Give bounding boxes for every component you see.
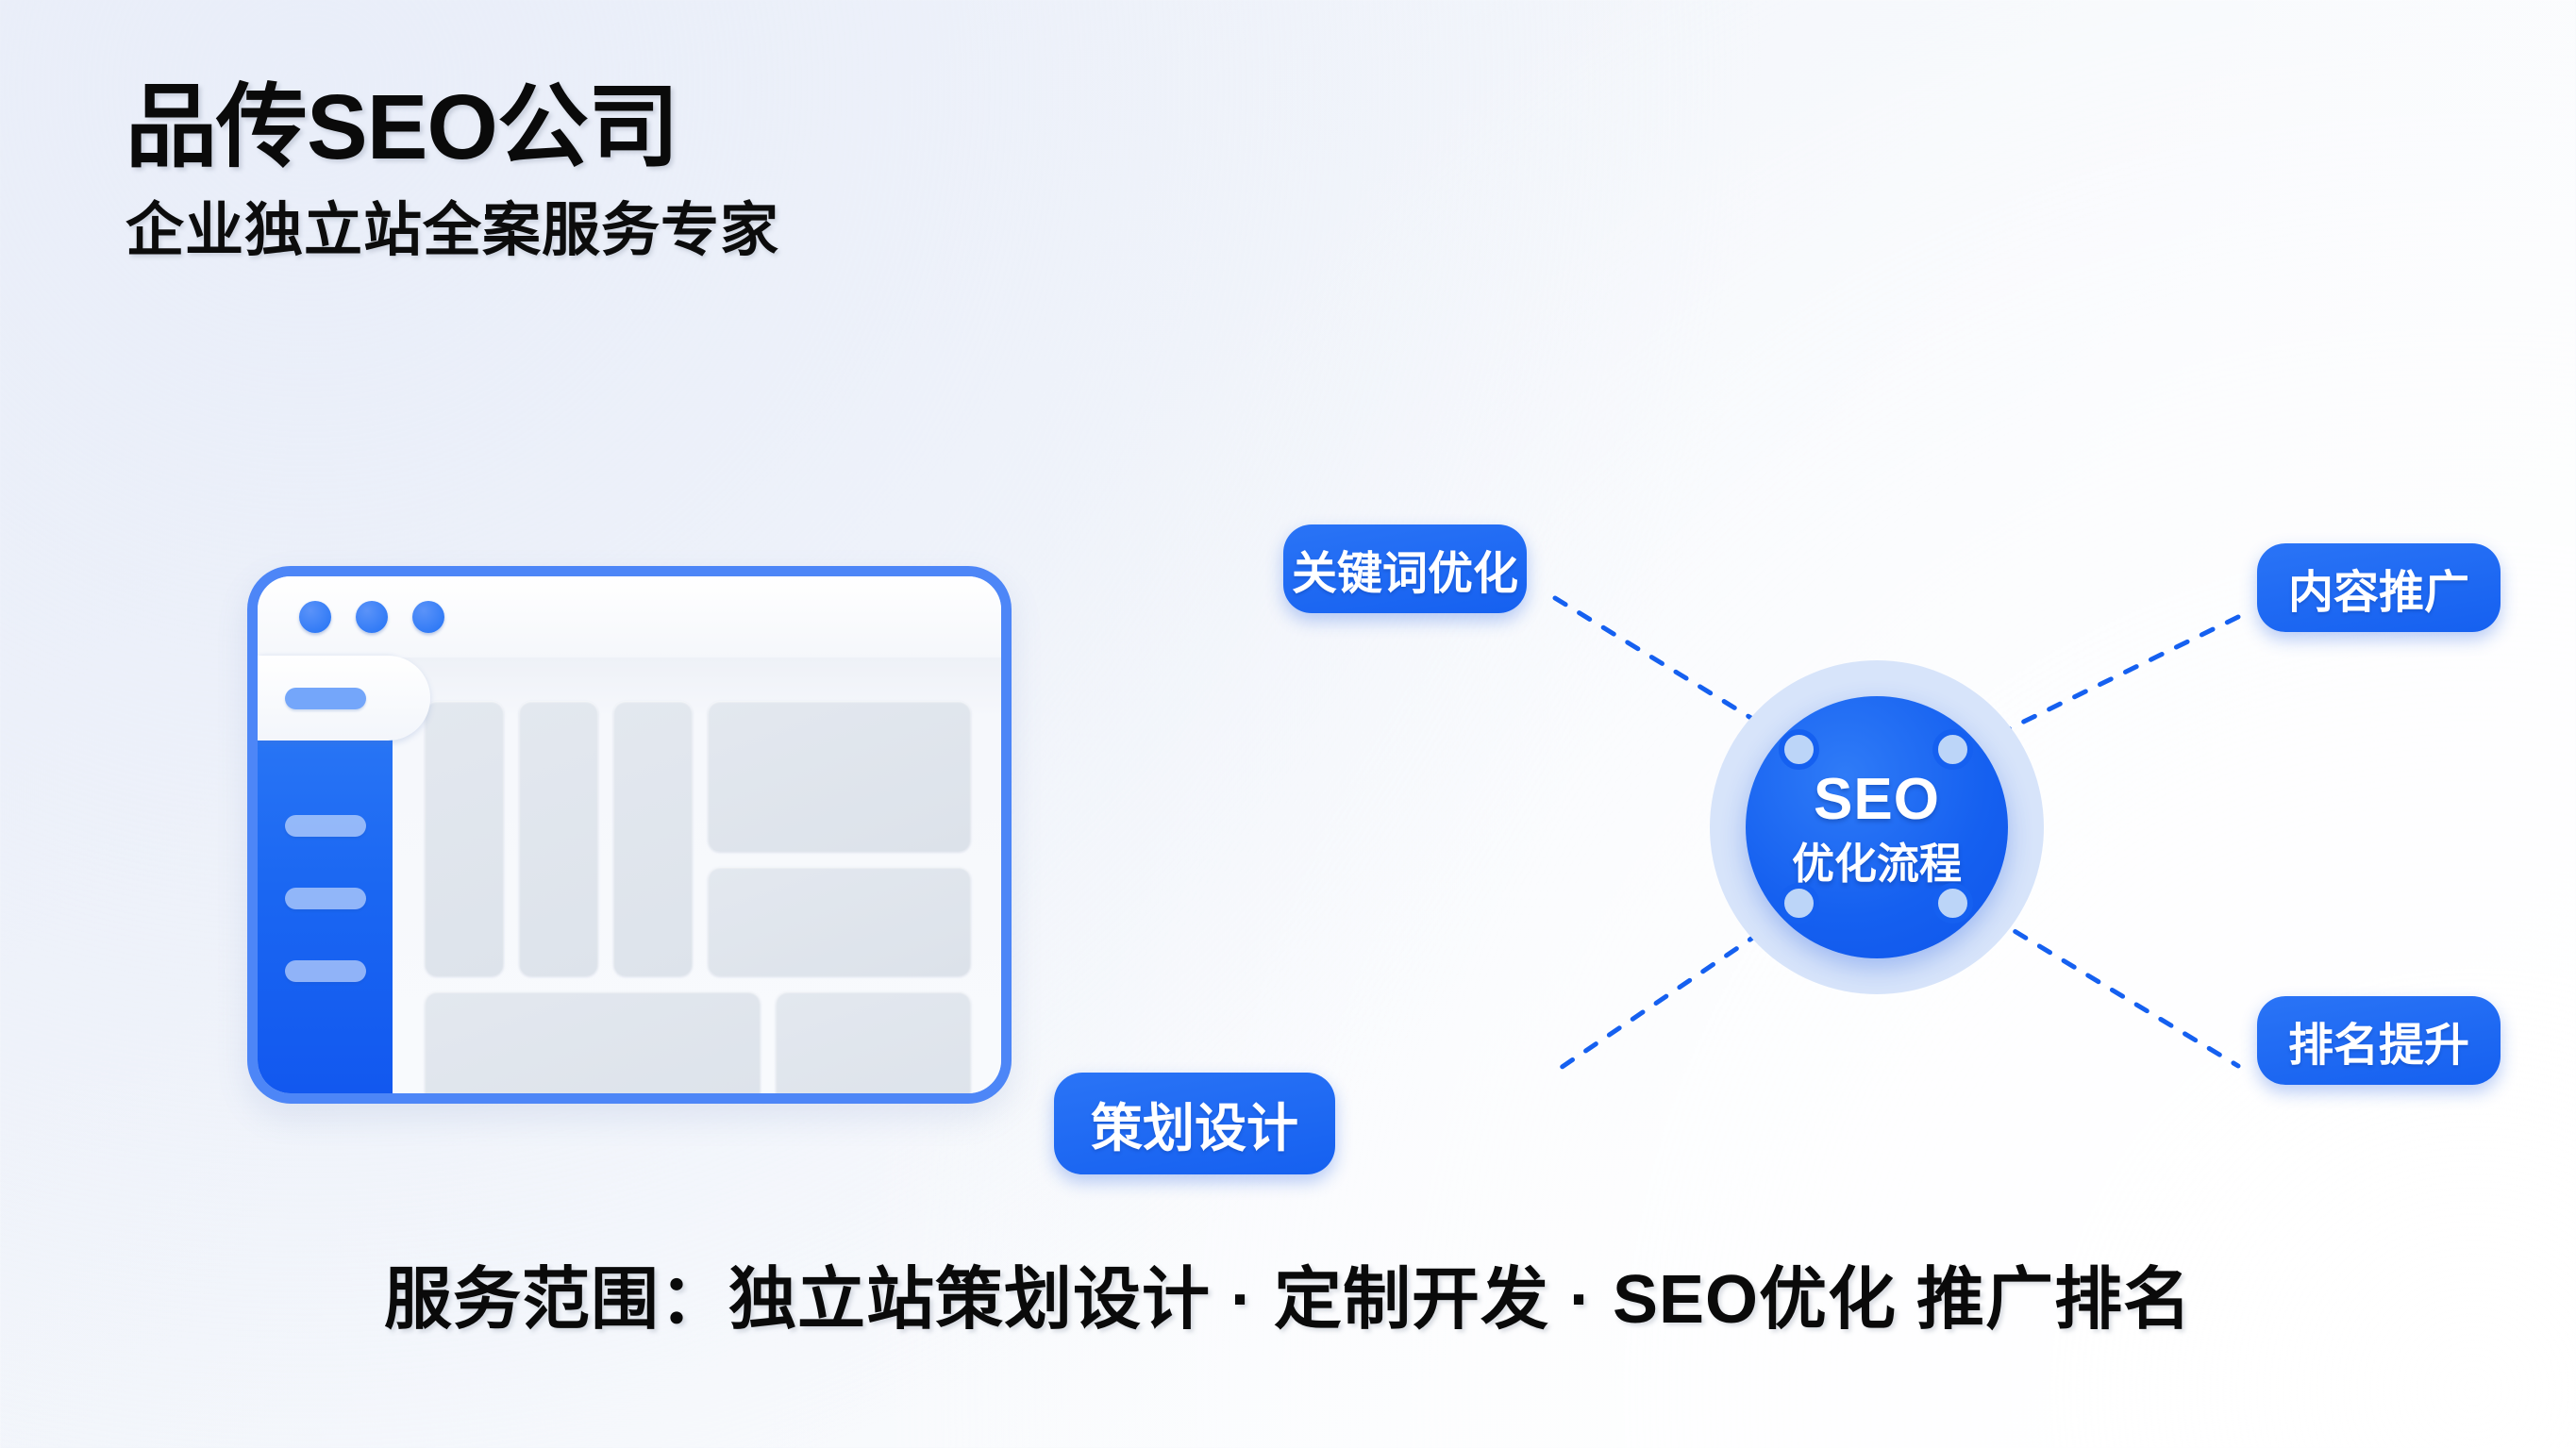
page-header: 品传SEO公司 企业独立站全案服务专家	[125, 78, 779, 263]
service-scope-footer: 服务范围：独立站策划设计 · 定制开发 · SEO优化 推广排名	[0, 1243, 2576, 1342]
browser-content-area	[393, 657, 1001, 1093]
page-subtitle: 企业独立站全案服务专家	[125, 199, 779, 263]
badge-ranking-boost[interactable]: 排名提升	[2257, 996, 2501, 1085]
content-column-2	[519, 701, 598, 976]
diagram-node-dot-top-right[interactable]	[1932, 729, 1973, 770]
diagram-node-dot-bottom-right[interactable]	[1932, 883, 1973, 924]
badge-keyword-optimization[interactable]: 关键词优化	[1283, 524, 1527, 613]
badge-planning-design[interactable]: 策划设计	[1054, 1073, 1335, 1174]
content-right-stack	[708, 701, 971, 976]
browser-window	[247, 566, 1012, 1104]
content-grid-top	[425, 701, 971, 976]
window-dot-icon-1[interactable]	[299, 601, 331, 633]
content-column-1	[425, 701, 504, 976]
sidebar-item-2[interactable]	[285, 888, 366, 909]
content-column-3	[613, 701, 693, 976]
sidebar-item-label-placeholder	[285, 688, 366, 709]
diagram-center-subtitle: 优化流程	[1792, 842, 1962, 885]
content-narrow-block	[776, 991, 971, 1104]
content-wide-block	[425, 991, 761, 1104]
window-dot-icon-2[interactable]	[356, 601, 388, 633]
diagram-node-dot-bottom-left[interactable]	[1779, 883, 1819, 924]
badge-content-promotion[interactable]: 内容推广	[2257, 543, 2501, 632]
seo-process-diagram: SEO 优化流程 关键词优化 内容推广 排名提升	[1283, 500, 2501, 1141]
website-builder-browser-mockup: 策划设计 定制开发	[247, 566, 1030, 1113]
sidebar-item-1[interactable]	[285, 815, 366, 837]
content-panel-bottom	[708, 867, 971, 976]
browser-titlebar	[258, 576, 1001, 657]
content-panel-top	[708, 701, 971, 852]
diagram-node-dot-top-left[interactable]	[1779, 729, 1819, 770]
window-dot-icon-3[interactable]	[412, 601, 444, 633]
content-grid-bottom	[425, 991, 971, 1104]
sidebar-item-3[interactable]	[285, 960, 366, 982]
page-title: 品传SEO公司	[125, 78, 779, 177]
sidebar-item-active[interactable]	[258, 656, 430, 741]
diagram-center-title: SEO	[1814, 771, 1940, 829]
